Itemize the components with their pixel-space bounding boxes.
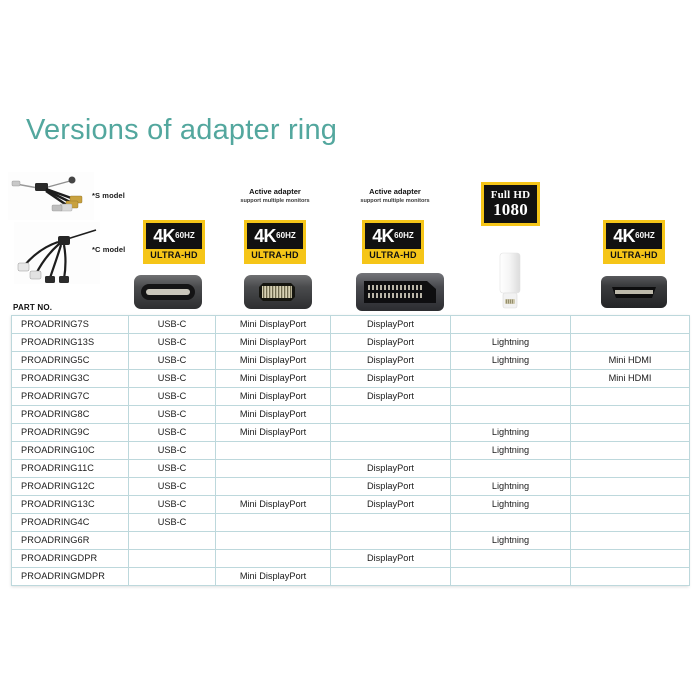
cell-hdmi (571, 532, 690, 550)
cell-hdmi (571, 568, 690, 586)
cell-dp: DisplayPort (331, 460, 451, 478)
cell-hdmi: Mini HDMI (571, 352, 690, 370)
cell-dp (331, 406, 451, 424)
cell-hdmi (571, 334, 690, 352)
cell-dp: DisplayPort (331, 478, 451, 496)
cell-hdmi (571, 406, 690, 424)
cell-usbc: USB-C (129, 388, 216, 406)
caption-sub: support multiple monitors (335, 197, 455, 205)
cell-dp: DisplayPort (331, 388, 451, 406)
badge-4k-text: 4K (613, 227, 634, 245)
table-row[interactable]: PROADRING7C USB-C Mini DisplayPort Displ… (12, 388, 690, 406)
badge-4k-ultrahd-hdmi: 4K 60HZ ULTRA-HD (603, 220, 665, 264)
badge-4k-text: 4K (372, 227, 393, 245)
badge-hz-text: 60HZ (394, 231, 414, 241)
cell-dp: DisplayPort (331, 496, 451, 514)
badge-4k-ultrahd-mdp: 4K 60HZ ULTRA-HD (244, 220, 306, 264)
caption-main: Active adapter (215, 187, 335, 197)
badge-4k-text: 4K (254, 227, 275, 245)
cell-usbc: USB-C (129, 442, 216, 460)
badge-top: 4K 60HZ (606, 223, 662, 249)
cell-dp: DisplayPort (331, 370, 451, 388)
cell-hdmi (571, 388, 690, 406)
displayport-connector (355, 271, 445, 313)
cell-hdmi (571, 316, 690, 334)
cell-mdp: Mini DisplayPort (216, 568, 331, 586)
table-row[interactable]: PROADRING9C USB-C Mini DisplayPort Light… (12, 424, 690, 442)
cell-hdmi (571, 442, 690, 460)
cell-usbc: USB-C (129, 496, 216, 514)
cell-lightning: Lightning (451, 478, 571, 496)
cell-dp: DisplayPort (331, 316, 451, 334)
cell-usbc (129, 550, 216, 568)
model-s-label: *S model (92, 191, 125, 200)
cell-lightning (451, 568, 571, 586)
table-row[interactable]: PROADRINGDPR DisplayPort (12, 550, 690, 568)
cell-hdmi: Mini HDMI (571, 370, 690, 388)
cell-lightning (451, 370, 571, 388)
cell-part-no: PROADRING8C (12, 406, 129, 424)
cell-usbc: USB-C (129, 460, 216, 478)
badge-1080-text: 1080 (493, 201, 528, 218)
adapter-ring-s-model-photo (8, 172, 94, 220)
cell-lightning: Lightning (451, 496, 571, 514)
badge-ultrahd-text: ULTRA-HD (247, 249, 303, 261)
badge-ultrahd-text: ULTRA-HD (146, 249, 202, 261)
cell-hdmi (571, 478, 690, 496)
cell-lightning (451, 460, 571, 478)
cell-usbc: USB-C (129, 352, 216, 370)
cell-lightning: Lightning (451, 352, 571, 370)
table-row[interactable]: PROADRING7S USB-C Mini DisplayPort Displ… (12, 316, 690, 334)
cell-part-no: PROADRING3C (12, 370, 129, 388)
badge-full-hd-1080: Full HD 1080 (481, 182, 540, 226)
cell-lightning (451, 388, 571, 406)
cell-dp (331, 568, 451, 586)
badge-4k-ultrahd-usbc: 4K 60HZ ULTRA-HD (143, 220, 205, 264)
header-band: *S model *C model Active adapter support… (0, 160, 700, 315)
cell-part-no: PROADRING10C (12, 442, 129, 460)
table-row[interactable]: PROADRING6R Lightning (12, 532, 690, 550)
page-root: Versions of adapter ring (0, 0, 700, 700)
cell-part-no: PROADRING11C (12, 460, 129, 478)
cell-lightning: Lightning (451, 334, 571, 352)
cell-lightning: Lightning (451, 532, 571, 550)
badge-top: 4K 60HZ (247, 223, 303, 249)
cell-mdp: Mini DisplayPort (216, 496, 331, 514)
badge-inner: Full HD 1080 (484, 185, 537, 223)
cell-mdp (216, 442, 331, 460)
table-row[interactable]: PROADRING13S USB-C Mini DisplayPort Disp… (12, 334, 690, 352)
cell-usbc: USB-C (129, 424, 216, 442)
table-body: PROADRING7S USB-C Mini DisplayPort Displ… (12, 316, 690, 586)
page-title: Versions of adapter ring (26, 114, 337, 147)
cell-usbc: USB-C (129, 370, 216, 388)
cell-part-no: PROADRING5C (12, 352, 129, 370)
cell-mdp (216, 460, 331, 478)
cell-usbc: USB-C (129, 334, 216, 352)
caption-main: Active adapter (335, 187, 455, 197)
cell-dp: DisplayPort (331, 334, 451, 352)
cell-mdp: Mini DisplayPort (216, 406, 331, 424)
caption-sub: support multiple monitors (215, 197, 335, 205)
cell-hdmi (571, 460, 690, 478)
model-c-label: *C model (92, 245, 125, 254)
badge-top: 4K 60HZ (146, 223, 202, 249)
mini-displayport-connector (243, 273, 313, 311)
cell-lightning (451, 550, 571, 568)
cell-mdp (216, 550, 331, 568)
badge-ultrahd-text: ULTRA-HD (606, 249, 662, 261)
cell-mdp: Mini DisplayPort (216, 334, 331, 352)
cell-usbc: USB-C (129, 316, 216, 334)
cell-lightning (451, 316, 571, 334)
cell-hdmi (571, 550, 690, 568)
table-row[interactable]: PROADRING4C USB-C (12, 514, 690, 532)
badge-hz-text: 60HZ (175, 231, 195, 241)
cell-mdp (216, 514, 331, 532)
badge-4k-text: 4K (153, 227, 174, 245)
cell-usbc: USB-C (129, 406, 216, 424)
cell-lightning (451, 406, 571, 424)
cell-dp (331, 532, 451, 550)
badge-ultrahd-text: ULTRA-HD (365, 249, 421, 261)
cell-part-no: PROADRING4C (12, 514, 129, 532)
mini-hdmi-connector (600, 274, 668, 310)
table-row[interactable]: PROADRING3C USB-C Mini DisplayPort Displ… (12, 370, 690, 388)
table-row[interactable]: PROADRINGMDPR Mini DisplayPort (12, 568, 690, 586)
table-row[interactable]: PROADRING5C USB-C Mini DisplayPort Displ… (12, 352, 690, 370)
cell-hdmi (571, 496, 690, 514)
badge-hz-text: 60HZ (276, 231, 296, 241)
cell-part-no: PROADRING13S (12, 334, 129, 352)
cell-part-no: PROADRINGDPR (12, 550, 129, 568)
table-row[interactable]: PROADRING12C USB-C DisplayPort Lightning (12, 478, 690, 496)
cell-part-no: PROADRING9C (12, 424, 129, 442)
cell-mdp: Mini DisplayPort (216, 352, 331, 370)
cell-hdmi (571, 424, 690, 442)
adapter-versions-table: PROADRING7S USB-C Mini DisplayPort Displ… (11, 315, 690, 586)
cell-mdp: Mini DisplayPort (216, 424, 331, 442)
active-adapter-caption-dp: Active adapter support multiple monitors (335, 187, 455, 205)
cell-lightning (451, 514, 571, 532)
table-row[interactable]: PROADRING11C USB-C DisplayPort (12, 460, 690, 478)
active-adapter-caption-mdp: Active adapter support multiple monitors (215, 187, 335, 205)
lightning-connector (496, 252, 524, 310)
cell-mdp: Mini DisplayPort (216, 370, 331, 388)
cell-part-no: PROADRINGMDPR (12, 568, 129, 586)
cell-dp: DisplayPort (331, 352, 451, 370)
cell-usbc: USB-C (129, 514, 216, 532)
usb-c-connector (133, 273, 203, 311)
cell-mdp (216, 532, 331, 550)
cell-part-no: PROADRING13C (12, 496, 129, 514)
cell-dp (331, 424, 451, 442)
cell-part-no: PROADRING12C (12, 478, 129, 496)
cell-mdp: Mini DisplayPort (216, 388, 331, 406)
cell-usbc (129, 532, 216, 550)
table-row[interactable]: PROADRING8C USB-C Mini DisplayPort (12, 406, 690, 424)
adapter-ring-c-model-photo (14, 222, 100, 284)
cell-part-no: PROADRING7C (12, 388, 129, 406)
badge-hz-text: 60HZ (635, 231, 655, 241)
badge-top: 4K 60HZ (365, 223, 421, 249)
cell-hdmi (571, 514, 690, 532)
cell-mdp: Mini DisplayPort (216, 316, 331, 334)
cell-usbc: USB-C (129, 478, 216, 496)
cell-part-no: PROADRING6R (12, 532, 129, 550)
part-no-header: PART NO. (13, 303, 52, 312)
cell-usbc (129, 568, 216, 586)
cell-lightning: Lightning (451, 424, 571, 442)
cell-mdp (216, 478, 331, 496)
cell-part-no: PROADRING7S (12, 316, 129, 334)
badge-4k-ultrahd-dp: 4K 60HZ ULTRA-HD (362, 220, 424, 264)
cell-dp: DisplayPort (331, 550, 451, 568)
table-row[interactable]: PROADRING13C USB-C Mini DisplayPort Disp… (12, 496, 690, 514)
table-row[interactable]: PROADRING10C USB-C Lightning (12, 442, 690, 460)
cell-dp (331, 442, 451, 460)
cell-dp (331, 514, 451, 532)
cell-lightning: Lightning (451, 442, 571, 460)
